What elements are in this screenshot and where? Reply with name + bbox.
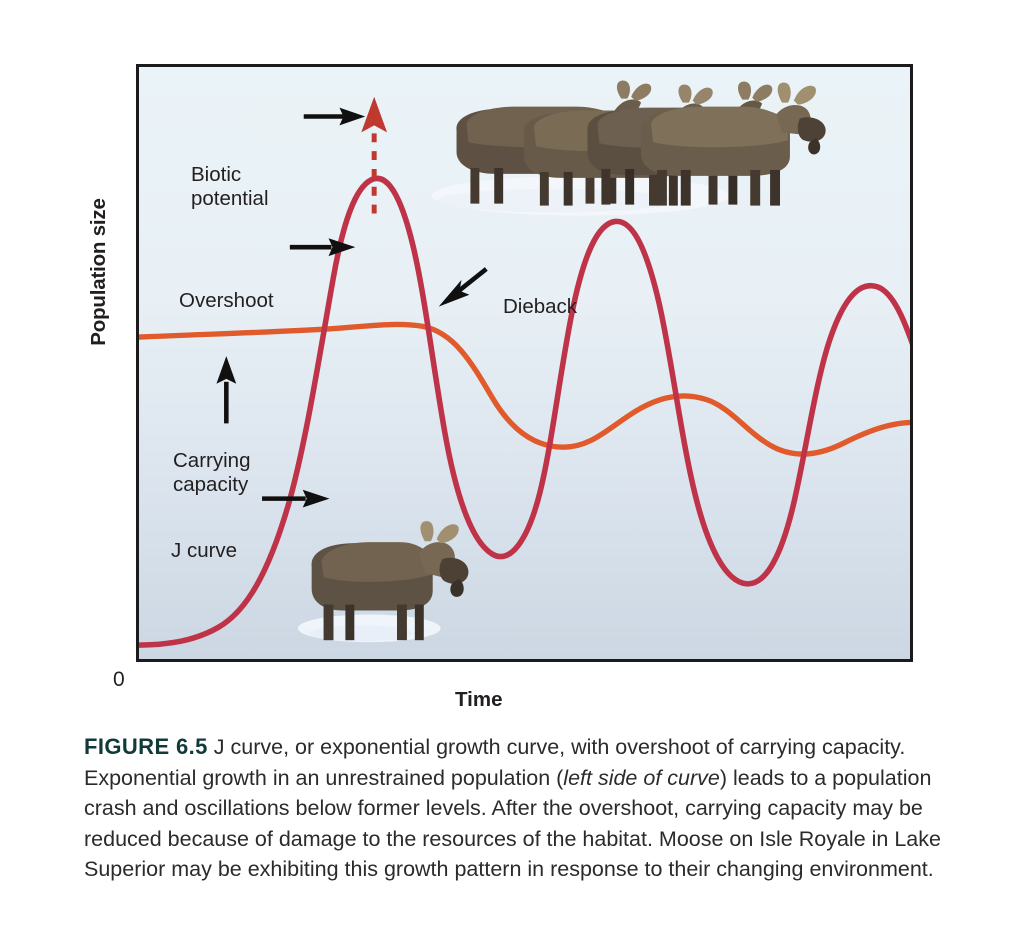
annotation-carrying-capacity: Carrying capacity xyxy=(173,449,250,497)
dieback-leader-arrow xyxy=(439,269,487,307)
overshoot-leader-arrow xyxy=(290,238,355,256)
carrying-capacity-leader-arrow xyxy=(216,356,236,423)
caption-text-italic: left side of curve xyxy=(563,766,720,790)
plot-graphics xyxy=(139,67,910,659)
y-axis-title: Population size xyxy=(87,157,111,387)
biotic-potential-arrow xyxy=(361,97,387,214)
moose-herd-illustration xyxy=(432,81,826,216)
figure-label: FIGURE 6.5 xyxy=(84,734,208,759)
annotation-j-curve: J curve xyxy=(171,539,237,563)
plot-frame: Biotic potential Overshoot Dieback Carry… xyxy=(136,64,913,662)
x-axis-title: Time xyxy=(455,688,502,712)
j-curve xyxy=(139,178,910,645)
axis-origin-label: 0 xyxy=(113,668,125,692)
annotation-overshoot: Overshoot xyxy=(179,289,274,313)
figure-6-5: Population size xyxy=(0,0,1028,952)
chart-area: Population size xyxy=(0,0,1028,720)
carrying-capacity-curve xyxy=(139,324,910,453)
biotic-potential-leader-arrow xyxy=(304,108,366,126)
annotation-biotic-potential: Biotic potential xyxy=(191,163,269,211)
annotation-dieback: Dieback xyxy=(503,295,577,319)
j-curve-leader-arrow xyxy=(262,490,329,508)
figure-caption: FIGURE 6.5 J curve, or exponential growt… xyxy=(84,731,964,885)
moose-single-illustration xyxy=(298,521,469,642)
